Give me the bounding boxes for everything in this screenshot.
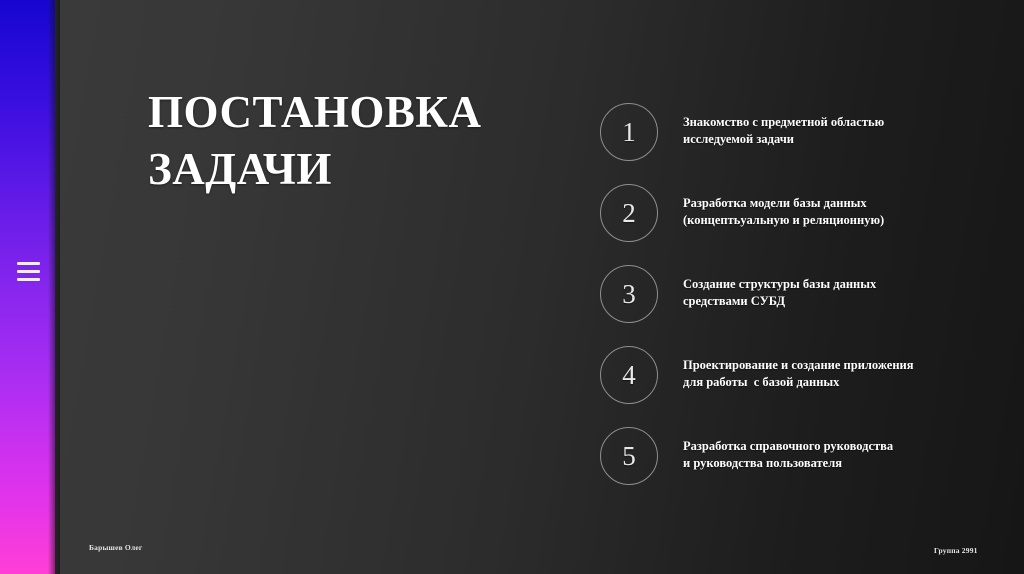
step-description: Разработка модели базы данных (концептьу… bbox=[683, 195, 983, 229]
presentation-slide: ПОСТАНОВКА ЗАДАЧИ 1 Знакомство с предмет… bbox=[0, 0, 1024, 574]
step-description: Создание структуры базы данных средствам… bbox=[683, 276, 983, 310]
hamburger-menu-icon[interactable] bbox=[17, 262, 40, 281]
list-item: 4 Проектирование и создание приложения д… bbox=[600, 346, 1000, 427]
step-line: Создание структуры базы данных bbox=[683, 276, 983, 293]
step-number-badge: 4 bbox=[600, 346, 658, 404]
step-description: Разработка справочного руководства и рук… bbox=[683, 438, 983, 472]
step-line: (концептьуальную и реляционную) bbox=[683, 212, 983, 229]
step-number-badge: 5 bbox=[600, 427, 658, 485]
slide-title-line: ЗАДАЧИ bbox=[148, 141, 568, 198]
step-line: Знакомство с предметной областью bbox=[683, 114, 983, 131]
step-description: Знакомство с предметной областью исследу… bbox=[683, 114, 983, 148]
list-item: 2 Разработка модели базы данных (концепт… bbox=[600, 184, 1000, 265]
step-description: Проектирование и создание приложения для… bbox=[683, 357, 983, 391]
step-line: для работы с базой данных bbox=[683, 374, 983, 391]
slide-title: ПОСТАНОВКА ЗАДАЧИ bbox=[148, 84, 568, 198]
step-line: средствами СУБД bbox=[683, 293, 983, 310]
step-number-badge: 3 bbox=[600, 265, 658, 323]
hamburger-bar bbox=[17, 270, 40, 273]
footer-author: Барышев Олег bbox=[89, 543, 143, 552]
footer-group: Группа 2991 bbox=[934, 546, 978, 555]
step-line: исследуемой задачи bbox=[683, 131, 983, 148]
slide-title-line: ПОСТАНОВКА bbox=[148, 84, 568, 141]
step-line: Проектирование и создание приложения bbox=[683, 357, 983, 374]
step-line: Разработка справочного руководства bbox=[683, 438, 983, 455]
list-item: 3 Создание структуры базы данных средств… bbox=[600, 265, 1000, 346]
list-item: 5 Разработка справочного руководства и р… bbox=[600, 427, 1000, 508]
hamburger-bar bbox=[17, 262, 40, 265]
list-item: 1 Знакомство с предметной областью иссле… bbox=[600, 103, 1000, 184]
steps-list: 1 Знакомство с предметной областью иссле… bbox=[600, 103, 1000, 508]
step-line: и руководства пользователя bbox=[683, 455, 983, 472]
step-number-badge: 1 bbox=[600, 103, 658, 161]
step-line: Разработка модели базы данных bbox=[683, 195, 983, 212]
step-number-badge: 2 bbox=[600, 184, 658, 242]
accent-gradient-bar bbox=[0, 0, 55, 574]
hamburger-bar bbox=[17, 278, 40, 281]
